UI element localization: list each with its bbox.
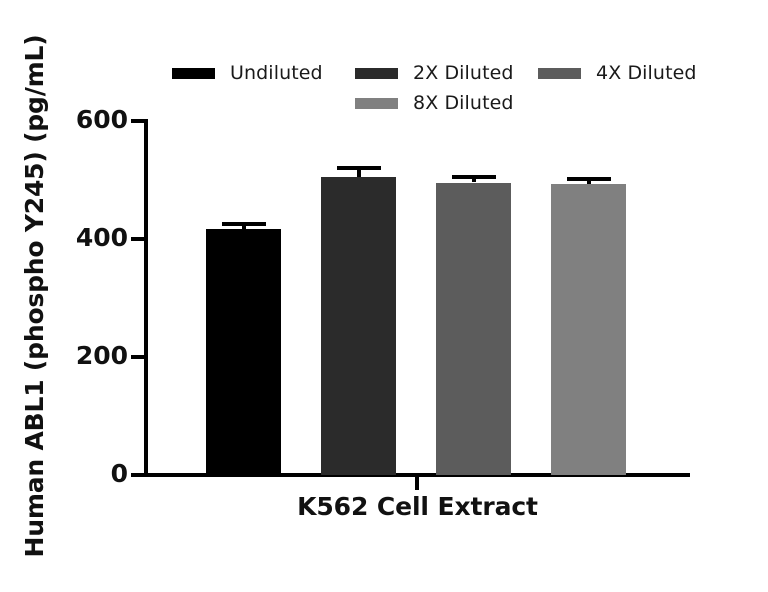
error-bar-cap-undiluted	[222, 222, 266, 226]
bar-8x-diluted[interactable]	[551, 184, 626, 475]
plot-area: 0 200 400 600 K562 Cell Extract	[0, 0, 768, 592]
error-bar-cap-8x-diluted	[567, 177, 611, 181]
bars-layer	[0, 0, 768, 475]
error-bar-cap-2x-diluted	[337, 166, 381, 170]
error-bar-cap-4x-diluted	[452, 175, 496, 179]
bar-4x-diluted[interactable]	[436, 183, 511, 476]
bar-undiluted[interactable]	[206, 229, 281, 475]
x-tick-mark-k562	[415, 477, 419, 490]
chart-figure: Human ABL1 (phospho Y245) (pg/mL) Undilu…	[0, 0, 768, 592]
bar-2x-diluted[interactable]	[321, 177, 396, 475]
x-category-label-k562: K562 Cell Extract	[145, 492, 690, 521]
